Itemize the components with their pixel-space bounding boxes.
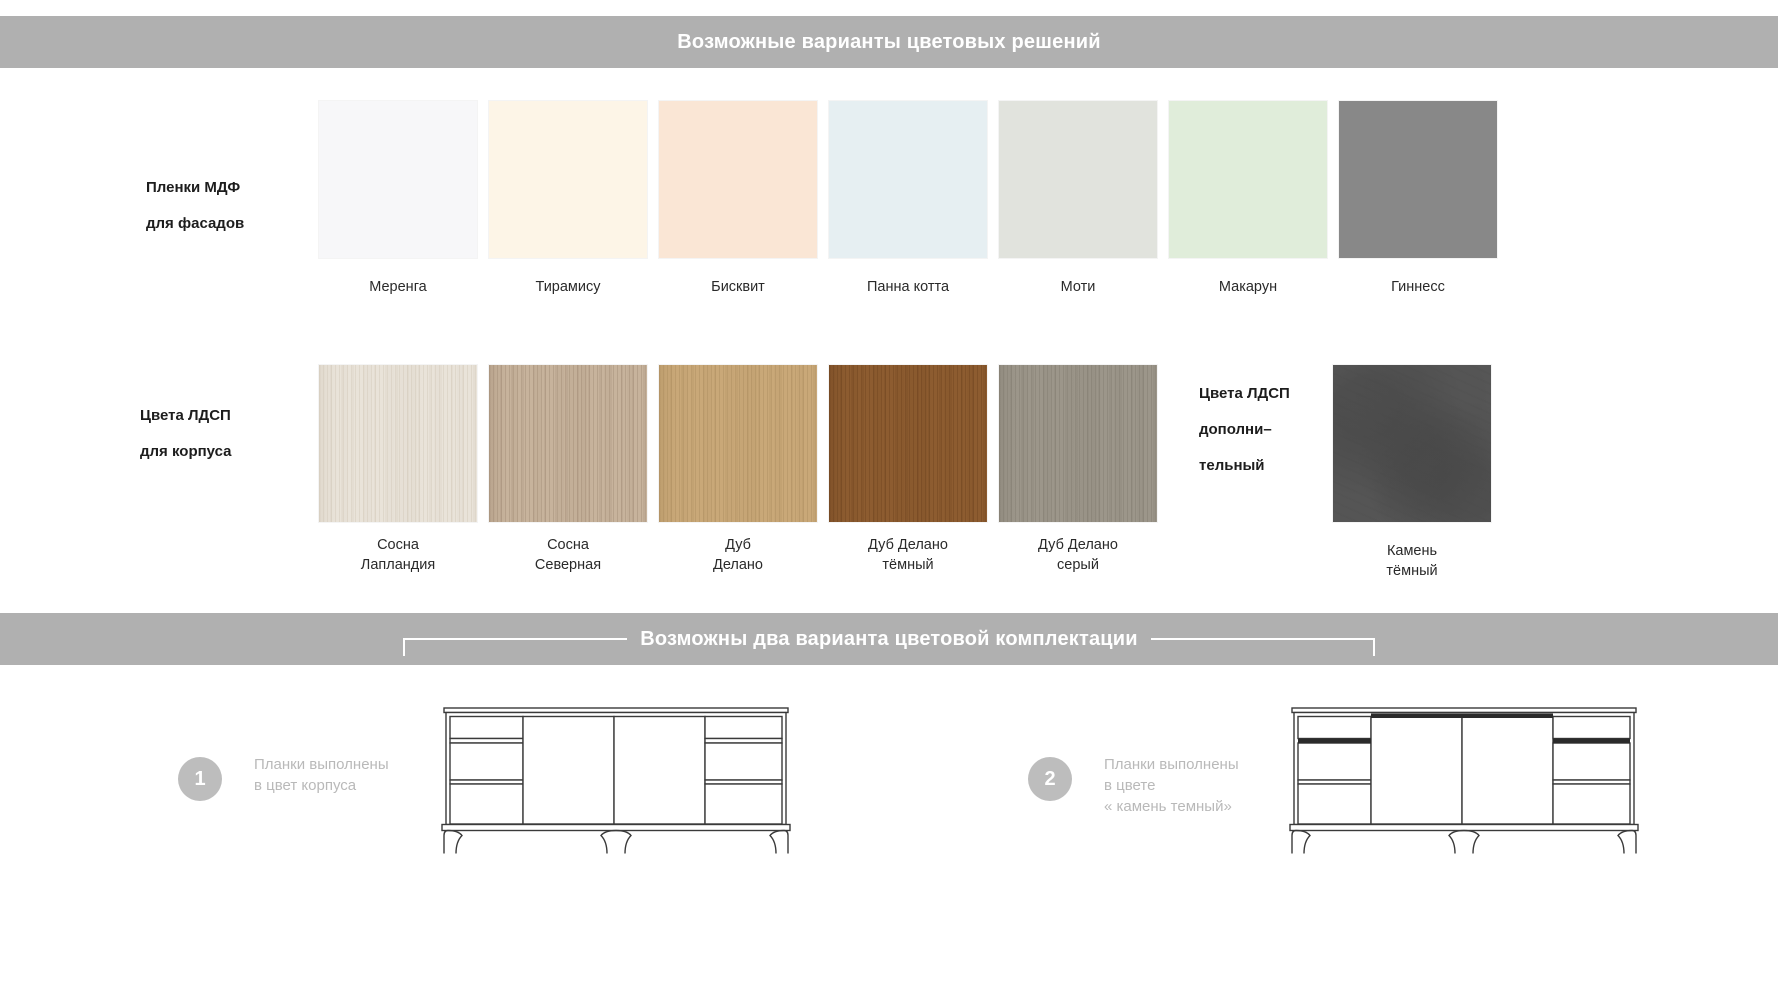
swatch-color-ginness[interactable] (1339, 101, 1497, 258)
swatch-cell-merenga[interactable]: Меренга (319, 101, 477, 297)
swatch-cell-tiramisu[interactable]: Тирамису (489, 101, 647, 297)
section-label-films: Пленки МДФ для фасадов (146, 170, 244, 242)
swatch-cell-dub-delano-temny[interactable]: Дуб Делано тёмный (829, 365, 987, 575)
option-1-badge: 1 (178, 757, 222, 801)
swatch-label-tiramisu: Тирамису (535, 277, 600, 297)
section-label-boards: Цвета ЛДСП для корпуса (140, 398, 232, 470)
swatch-color-panna-kotta[interactable] (829, 101, 987, 258)
banner-mid-title: Возможны два варианта цветовой комплекта… (640, 628, 1138, 651)
bracket-right (1151, 638, 1375, 656)
board-swatch-row: Сосна Лапландия Сосна Северная Дуб Делан… (319, 365, 1157, 575)
swatch-label-dub-delano-sery: Дуб Делано серый (1038, 535, 1118, 575)
option-1-text: Планки выполнены в цвет корпуса (254, 754, 389, 796)
sideboard-svg-1 (430, 700, 802, 855)
swatch-cell-panna-kotta[interactable]: Панна котта (829, 101, 987, 297)
swatch-texture-dub-delano[interactable] (659, 365, 817, 522)
swatch-cell-sosna-severnaya[interactable]: Сосна Северная (489, 365, 647, 575)
swatch-label-ginness: Гиннесс (1391, 277, 1445, 297)
swatch-label-biskvit: Бисквит (711, 277, 765, 297)
swatch-color-merenga[interactable] (319, 101, 477, 258)
swatch-cell-ginness[interactable]: Гиннесс (1339, 101, 1497, 297)
sideboard-drawing-option-1 (430, 700, 802, 860)
swatch-cell-sosna-laplandiya[interactable]: Сосна Лапландия (319, 365, 477, 575)
option-2[interactable]: 2 Планки выполнены в цвете « камень темн… (1028, 757, 1239, 817)
swatch-label-dub-delano: Дуб Делано (713, 535, 763, 575)
swatch-label-moti: Моти (1061, 277, 1096, 297)
section-label-boards-extra: Цвета ЛДСП дополни– тельный (1199, 376, 1290, 484)
swatch-cell-makarun[interactable]: Макарун (1169, 101, 1327, 297)
swatch-label-sosna-severnaya: Сосна Северная (535, 535, 601, 575)
swatch-texture-sosna-severnaya[interactable] (489, 365, 647, 522)
sideboard-drawing-option-2 (1278, 700, 1650, 860)
swatch-cell-dub-delano[interactable]: Дуб Делано (659, 365, 817, 575)
swatch-color-makarun[interactable] (1169, 101, 1327, 258)
swatch-label-panna-kotta: Панна котта (867, 277, 949, 297)
bracket-left (403, 638, 627, 656)
swatch-label-kamen-temny: Камень тёмный (1386, 541, 1437, 581)
swatch-cell-biskvit[interactable]: Бисквит (659, 101, 817, 297)
swatch-label-dub-delano-temny: Дуб Делано тёмный (868, 535, 948, 575)
option-2-text: Планки выполнены в цвете « камень темный… (1104, 754, 1239, 817)
swatch-color-biskvit[interactable] (659, 101, 817, 258)
color-options-page: Возможные варианты цветовых решений Плен… (0, 0, 1778, 1000)
option-2-badge: 2 (1028, 757, 1072, 801)
swatch-texture-sosna-laplandiya[interactable] (319, 365, 477, 522)
swatch-texture-dub-delano-temny[interactable] (829, 365, 987, 522)
banner-color-options: Возможные варианты цветовых решений (0, 16, 1778, 68)
swatch-label-sosna-laplandiya: Сосна Лапландия (361, 535, 435, 575)
swatch-label-makarun: Макарун (1219, 277, 1277, 297)
option-1[interactable]: 1 Планки выполнены в цвет корпуса (178, 757, 389, 801)
swatch-cell-dub-delano-sery[interactable]: Дуб Делано серый (999, 365, 1157, 575)
film-swatch-row: Меренга Тирамису Бисквит Панна котта Мот… (319, 101, 1497, 297)
swatch-color-moti[interactable] (999, 101, 1157, 258)
banner-configurations: Возможны два варианта цветовой комплекта… (0, 613, 1778, 665)
swatch-texture-dub-delano-sery[interactable] (999, 365, 1157, 522)
swatch-texture-kamen-temny[interactable] (1333, 365, 1491, 522)
swatch-cell-moti[interactable]: Моти (999, 101, 1157, 297)
swatch-cell-kamen-temny[interactable]: Камень тёмный (1333, 365, 1491, 581)
sideboard-svg-2 (1278, 700, 1650, 855)
banner-top-title: Возможные варианты цветовых решений (677, 31, 1100, 54)
swatch-color-tiramisu[interactable] (489, 101, 647, 258)
swatch-label-merenga: Меренга (369, 277, 426, 297)
